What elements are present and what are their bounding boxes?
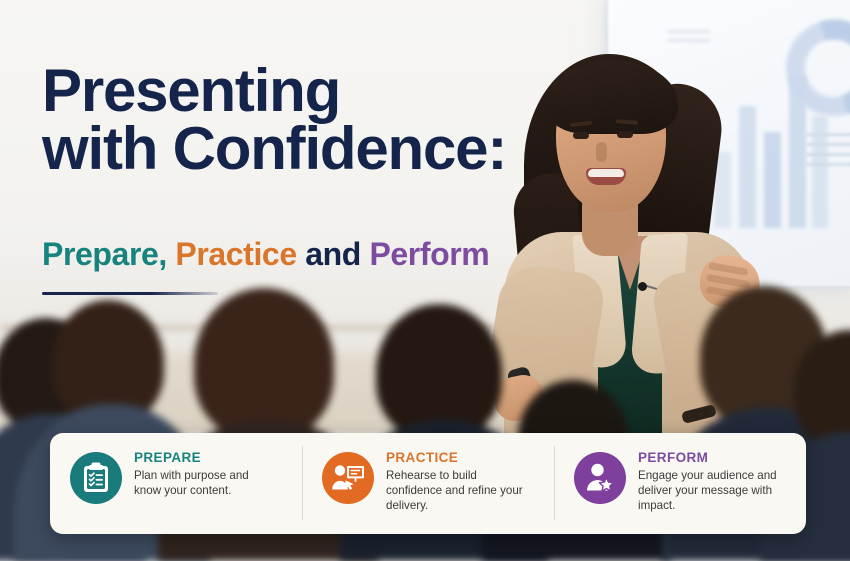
- step-card-perform[interactable]: PERFORM Engage your audience and deliver…: [554, 433, 806, 534]
- speaker-nose: [596, 142, 607, 162]
- speaker-eye-right: [617, 131, 633, 138]
- headline-line-1: Presenting: [42, 57, 340, 124]
- step-desc-perform: Engage your audience and deliver your me…: [638, 468, 780, 514]
- speaker-mouth: [586, 168, 626, 185]
- subtitle-word-perform: Perform: [369, 236, 489, 272]
- clipboard-checklist-icon: [70, 452, 122, 504]
- step-card-text: PERFORM Engage your audience and deliver…: [638, 444, 780, 514]
- steps-panel: PREPARE Plan with purpose and know your …: [50, 433, 806, 534]
- page-title: Presenting with Confidence:: [42, 62, 512, 177]
- step-card-prepare[interactable]: PREPARE Plan with purpose and know your …: [50, 433, 302, 534]
- step-title-prepare: PREPARE: [134, 450, 276, 466]
- step-card-text: PREPARE Plan with purpose and know your …: [134, 444, 276, 498]
- step-card-text: PRACTICE Rehearse to build confidence an…: [386, 444, 528, 514]
- step-card-practice[interactable]: PRACTICE Rehearse to build confidence an…: [302, 433, 554, 534]
- person-with-star-icon: [574, 452, 626, 504]
- step-desc-prepare: Plan with purpose and know your content.: [134, 468, 276, 499]
- subtitle-word-prepare: Prepare,: [42, 236, 167, 272]
- title-divider: [42, 292, 218, 295]
- speaker-eye-left: [573, 132, 589, 139]
- step-title-perform: PERFORM: [638, 450, 780, 466]
- slide-legend-lines: [806, 133, 850, 181]
- page-subtitle: Prepare, Practice and Perform: [42, 236, 542, 273]
- poster-stage: Presenting with Confidence: Prepare, Pra…: [0, 0, 850, 561]
- step-title-practice: PRACTICE: [386, 450, 528, 466]
- presenter-at-board-icon: [322, 452, 374, 504]
- subtitle-word-practice: Practice: [175, 236, 296, 272]
- headline-line-2: with Confidence:: [42, 120, 512, 178]
- speaker-hair-front: [546, 60, 678, 134]
- speaker-teeth: [588, 169, 624, 177]
- subtitle-word-and: and: [305, 236, 361, 272]
- step-desc-practice: Rehearse to build confidence and refine …: [386, 468, 528, 514]
